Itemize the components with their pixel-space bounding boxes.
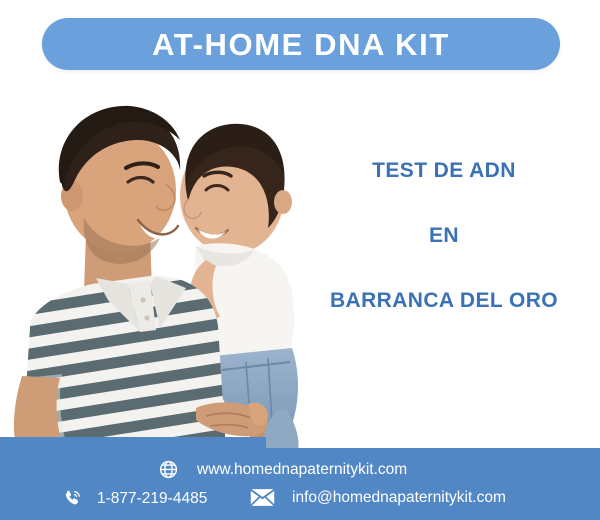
heading-line-3: BARRANCA DEL ORO bbox=[300, 290, 588, 311]
banner-title-text: AT-HOME DNA KIT bbox=[152, 29, 450, 60]
footer-email-text: info@homednapaternitykit.com bbox=[292, 490, 506, 506]
footer-email-row[interactable]: info@homednapaternitykit.com bbox=[250, 488, 506, 507]
heading-line-1: TEST DE ADN bbox=[300, 160, 588, 181]
footer-website-text: www.homednapaternitykit.com bbox=[197, 462, 407, 478]
footer-phone-row[interactable]: 1-877-219-4485 bbox=[62, 488, 207, 509]
globe-icon bbox=[158, 459, 179, 480]
footer-phone-text: 1-877-219-4485 bbox=[97, 491, 207, 507]
contact-footer: www.homednapaternitykit.com 1-877-219-44… bbox=[0, 437, 600, 520]
heading-block: TEST DE ADN EN BARRANCA DEL ORO bbox=[300, 160, 588, 311]
phone-icon bbox=[62, 488, 83, 509]
footer-rows: www.homednapaternitykit.com 1-877-219-44… bbox=[0, 437, 600, 520]
footer-website-row[interactable]: www.homednapaternitykit.com bbox=[158, 459, 407, 480]
father-child-illustration bbox=[0, 78, 340, 450]
hero-photo bbox=[0, 78, 340, 450]
poster-canvas: AT-HOME DNA KIT bbox=[0, 0, 600, 520]
banner-title-pill: AT-HOME DNA KIT bbox=[42, 18, 560, 70]
envelope-icon bbox=[250, 488, 275, 507]
heading-line-2: EN bbox=[300, 225, 588, 246]
